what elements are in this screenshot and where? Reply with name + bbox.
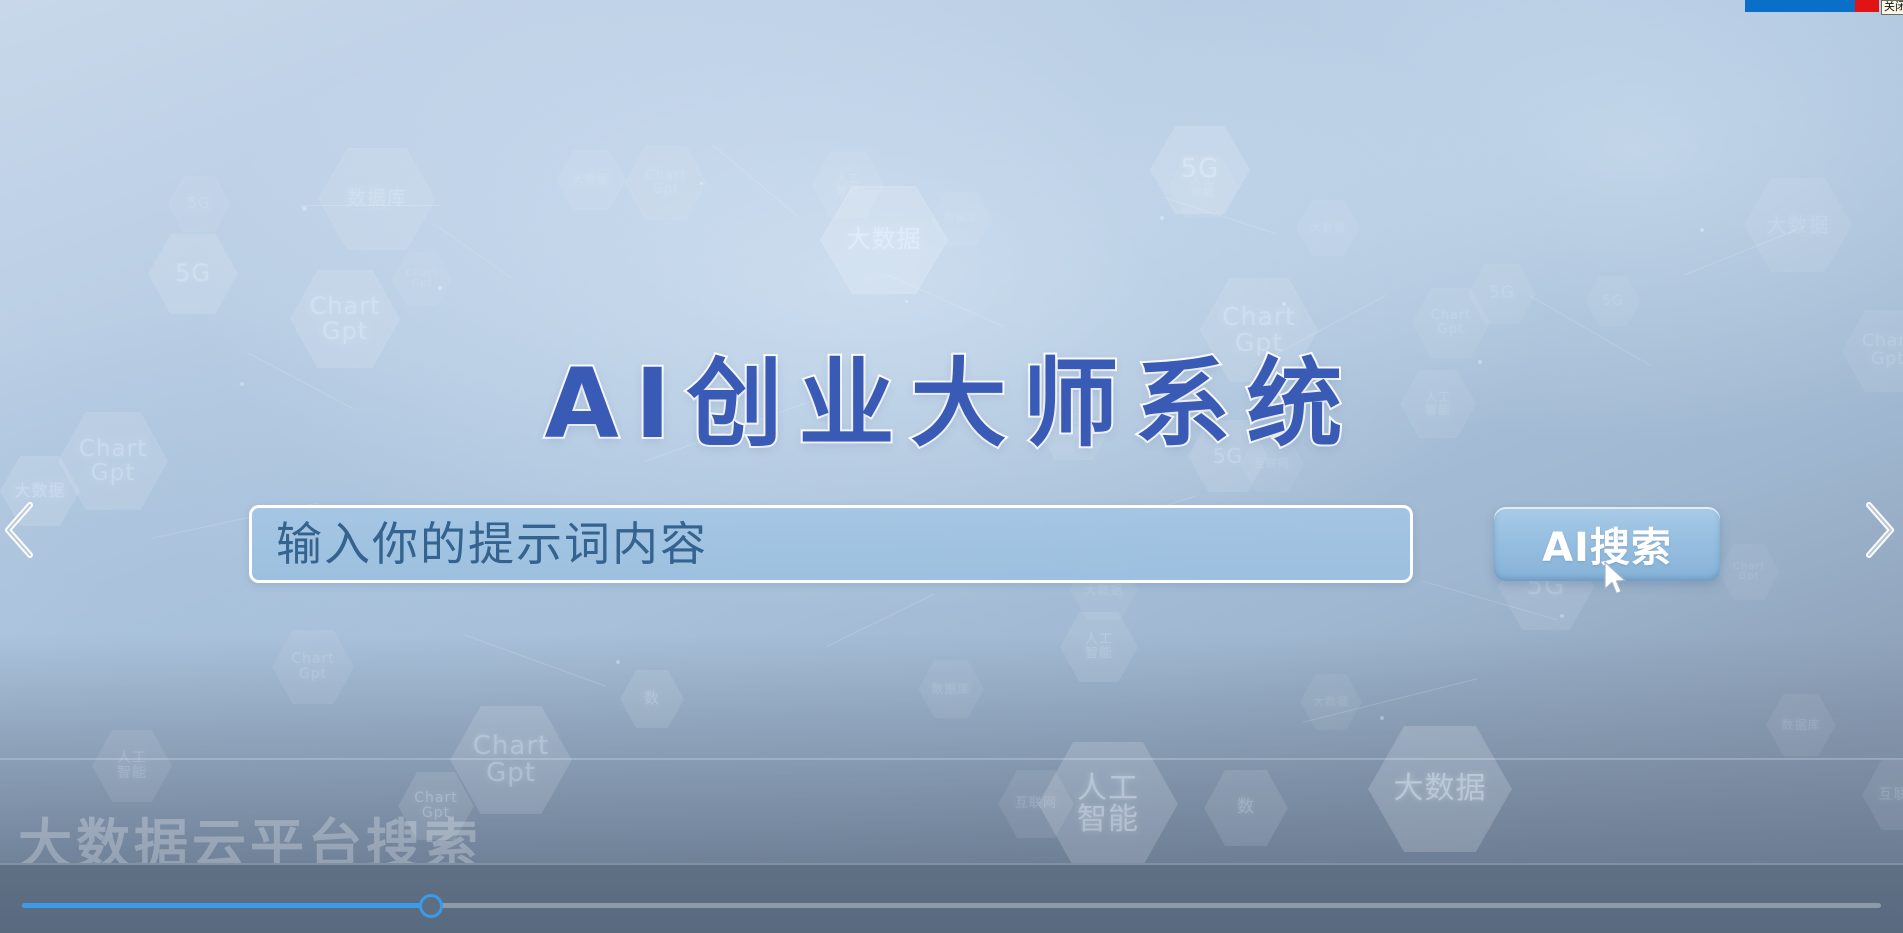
window-close-button[interactable] xyxy=(1855,0,1879,12)
background-horizon-line xyxy=(0,758,1903,760)
progress-slider[interactable] xyxy=(22,895,1881,915)
os-window-bar[interactable] xyxy=(1745,0,1855,12)
carousel-prev-arrow[interactable] xyxy=(0,495,40,565)
search-input[interactable] xyxy=(249,505,1413,583)
search-row: AI搜索 xyxy=(0,505,1903,591)
app-screen: 数据库5G大数据人工 智能大数据Chart Gpt大数据5G5G5GChart … xyxy=(0,0,1903,933)
carousel-next-arrow[interactable] xyxy=(1859,495,1899,565)
ai-search-button[interactable]: AI搜索 xyxy=(1494,507,1720,581)
close-tooltip: 关闭 xyxy=(1881,0,1903,15)
page-title: AI创业大师系统 xyxy=(0,326,1903,465)
footer-bar xyxy=(0,863,1903,933)
slider-fill xyxy=(22,903,431,908)
slider-handle[interactable] xyxy=(419,894,443,918)
